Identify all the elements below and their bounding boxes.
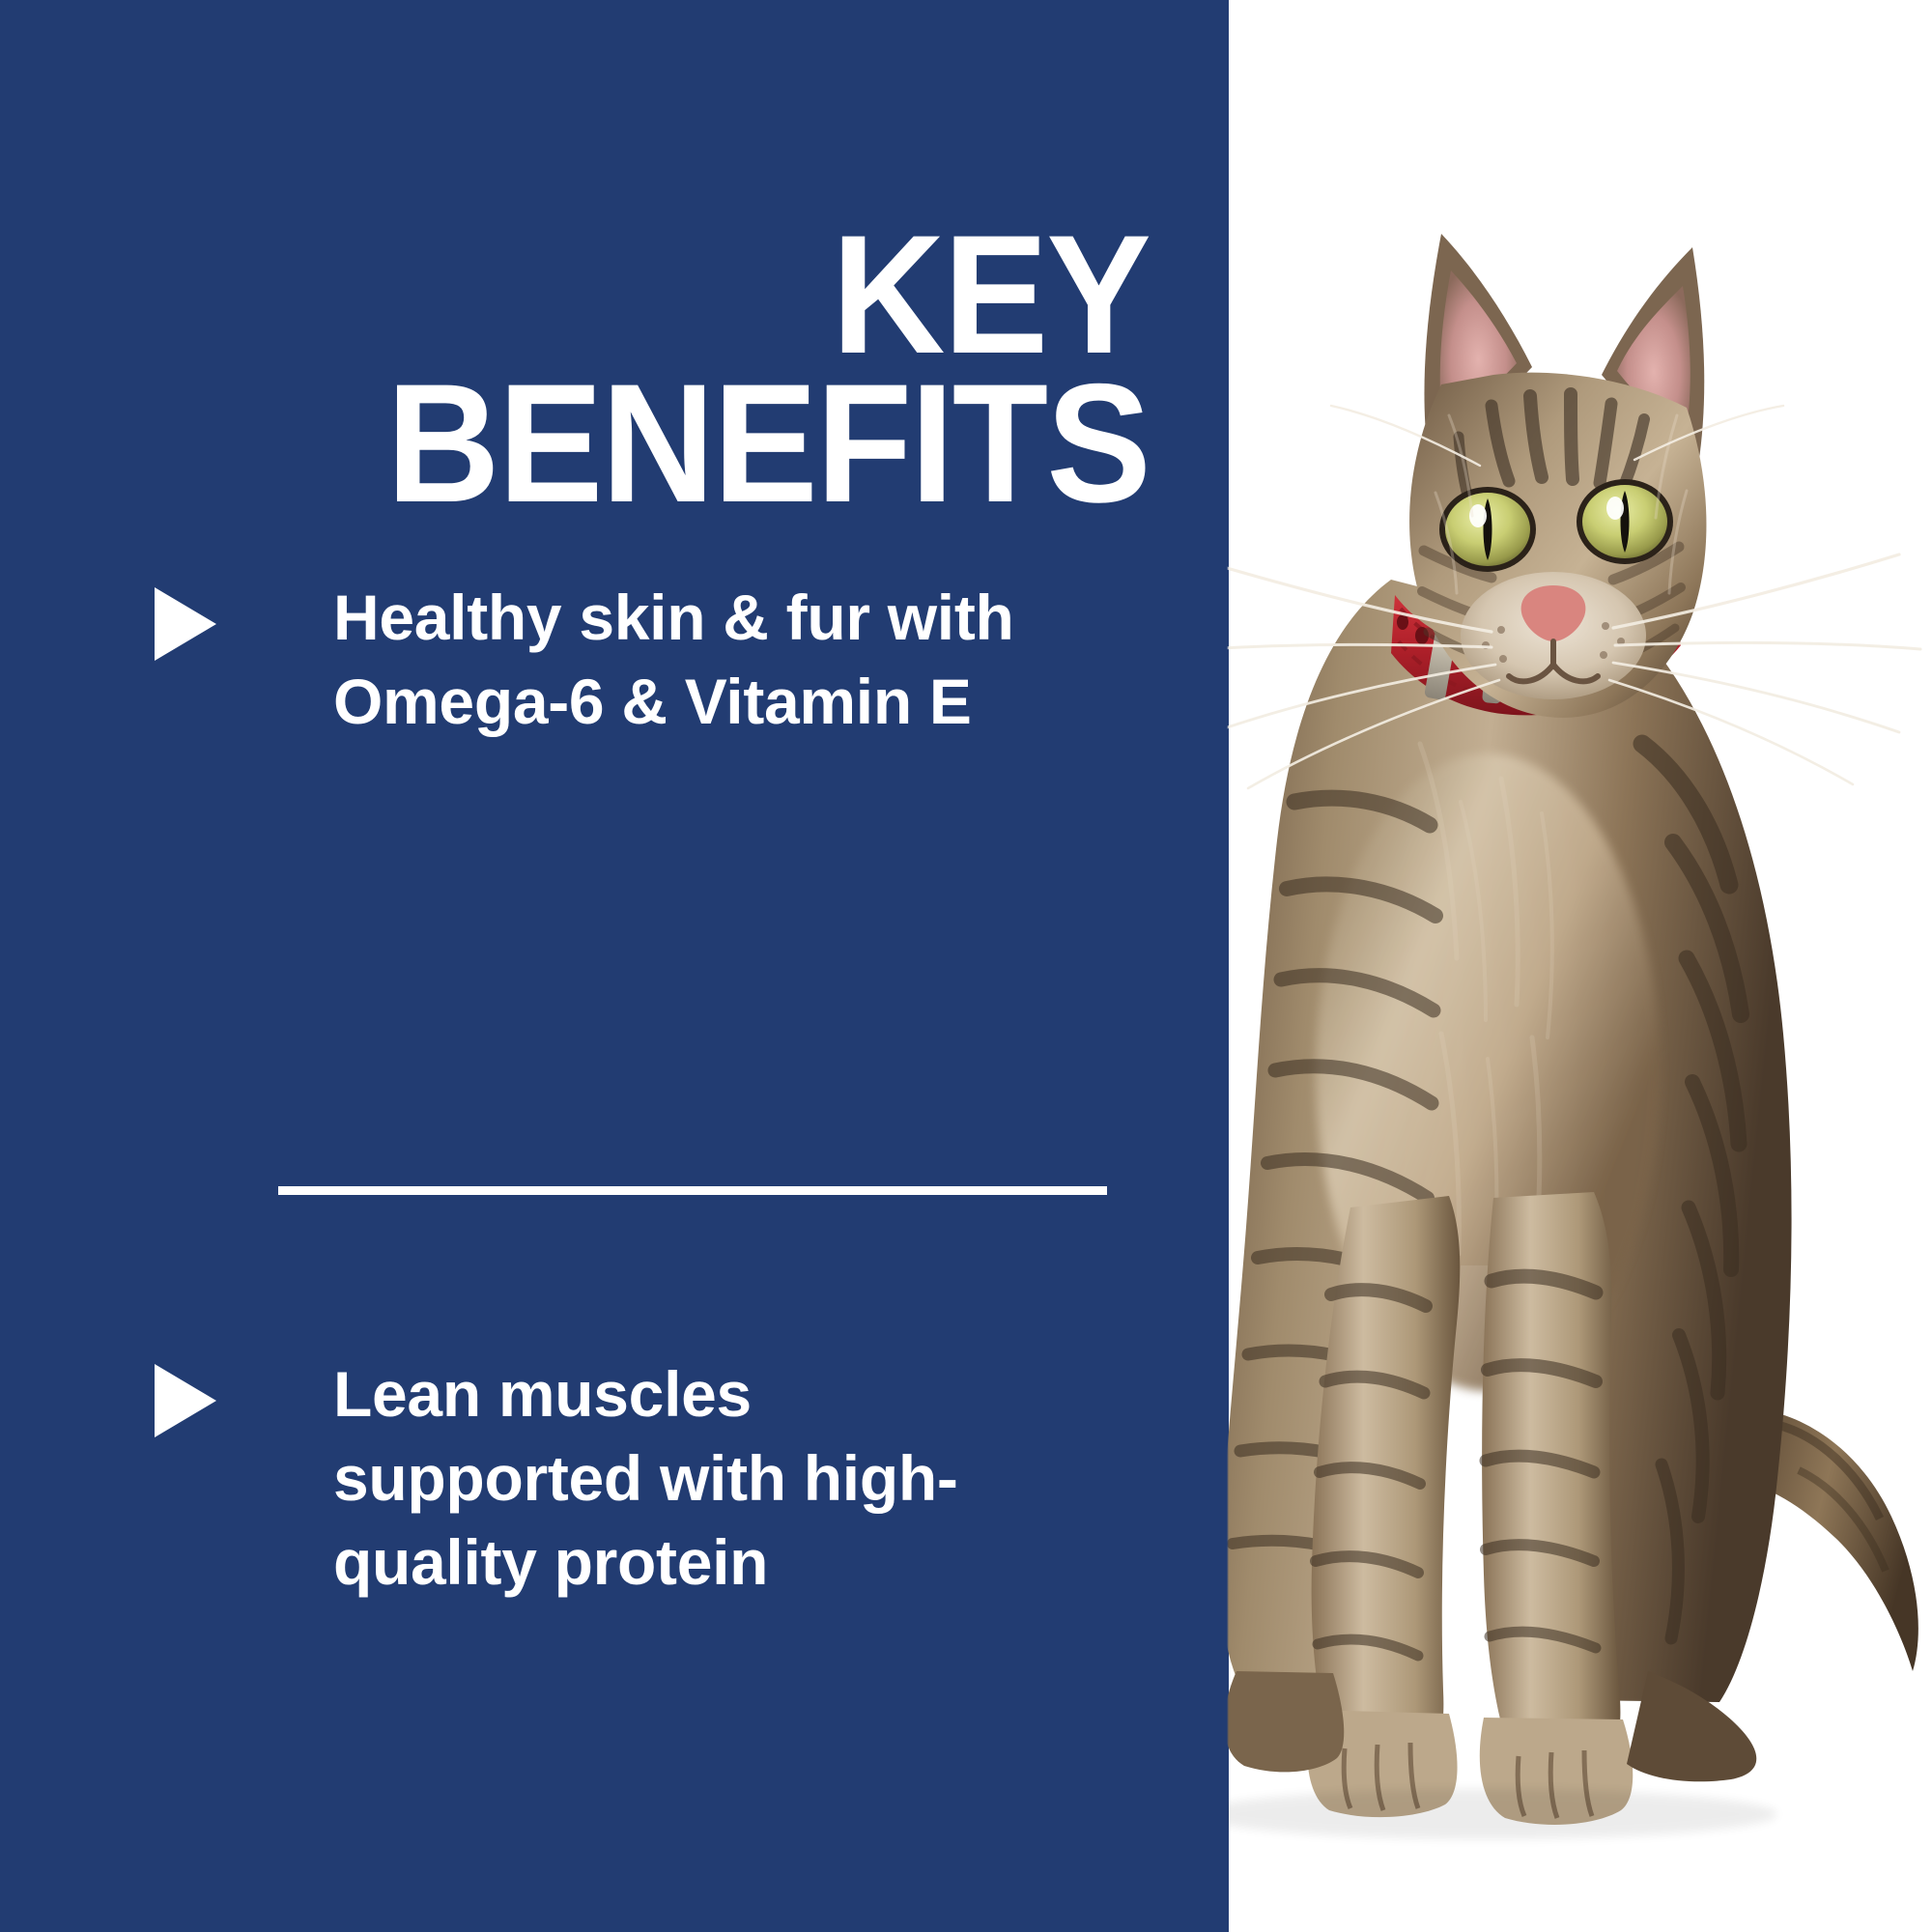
page-title-line-1: KEY	[80, 221, 1150, 370]
page-title-line-2: BENEFITS	[80, 370, 1150, 519]
key-benefits-panel: KEY BENEFITS Healthy skin & fur with Ome…	[0, 0, 1932, 1932]
triangle-right-icon	[155, 587, 216, 661]
cat-photo-graphic	[1101, 126, 1932, 1932]
benefit-item-2-label: Lean muscles supported with high-quality…	[333, 1352, 1024, 1605]
benefit-item-1: Healthy skin & fur with Omega-6 & Vitami…	[155, 576, 1024, 744]
page-title: KEY BENEFITS	[80, 221, 1150, 519]
benefit-divider	[278, 1186, 1107, 1195]
triangle-right-icon	[155, 1364, 216, 1437]
benefit-item-1-label: Healthy skin & fur with Omega-6 & Vitami…	[333, 576, 1024, 744]
benefit-item-2: Lean muscles supported with high-quality…	[155, 1352, 1024, 1605]
cat-photo	[1101, 126, 1932, 1932]
